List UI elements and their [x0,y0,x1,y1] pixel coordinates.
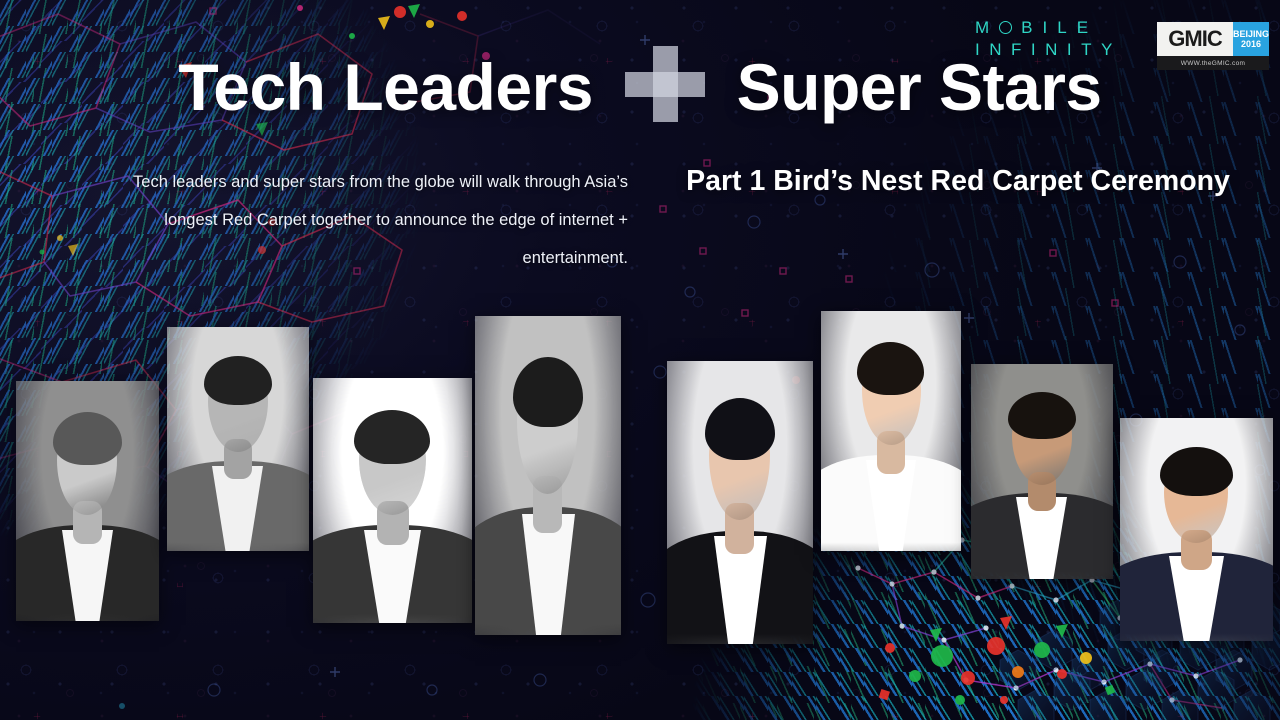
tech-leader-1 [16,381,159,621]
super-star-3 [971,364,1113,579]
tech-leader-4 [475,316,621,635]
super-star-1 [667,361,813,644]
intro-paragraph: Tech leaders and super stars from the gl… [100,163,628,277]
page-title: Tech Leaders Super Stars [0,44,1280,128]
gmic-city-label: BEIJING [1233,29,1269,39]
photo-hair [53,412,122,465]
photo-hair [705,398,775,460]
super-star-2 [821,311,961,551]
mobile-infinity-line1: MBILE [975,17,1122,39]
mobile-infinity-m: M [975,18,999,37]
headline-left: Tech Leaders [178,50,593,124]
photo-hair [857,342,924,395]
tech-leader-2 [167,327,309,551]
mobile-infinity-bile: BILE [1021,18,1098,37]
photo-hair [354,410,430,464]
presentation-slide: MBILE INFINITY GMIC BEIJING 2016 WWW.the… [0,0,1280,720]
super-star-4 [1120,418,1273,641]
headline-right: Super Stars [737,50,1102,124]
tech-leader-3 [313,378,472,623]
photo-hair [1160,447,1233,496]
photo-hair [1008,392,1076,439]
part-heading: Part 1 Bird’s Nest Red Carpet Ceremony [648,162,1268,200]
plus-sign-icon [625,46,705,122]
photo-hair [204,356,272,405]
circle-outline-icon [999,21,1012,34]
